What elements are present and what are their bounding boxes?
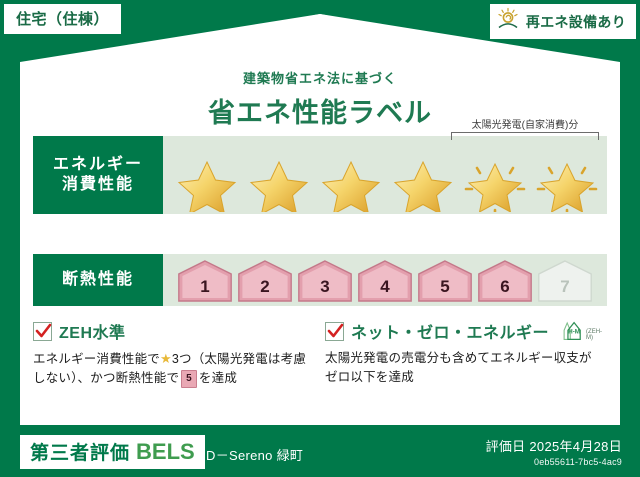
energy-performance-row: エネルギー 消費性能 太陽光発電(自家消費)分 — [33, 136, 607, 214]
achievement-zeh-title: ZEH水準 — [59, 319, 126, 343]
energy-label-line1: エネルギー — [53, 155, 143, 175]
insulation-label-line1: 断熱性能 — [62, 270, 134, 290]
insulation-performance-value: 1 2 — [163, 254, 607, 306]
energy-label-line2: 消費性能 — [62, 175, 134, 195]
insulation-level-number: 3 — [320, 277, 329, 303]
insulation-level-badge: 3 — [297, 259, 353, 303]
inline-insulation-badge: 5 — [181, 370, 197, 388]
energy-label-root: 住宅（住棟） 再エネ設備あり 建築物省エネ法に基づく 省エ — [0, 0, 640, 477]
bels-badge: 第三者評価 BELS — [20, 435, 205, 469]
solar-annotation-bracket — [451, 132, 599, 140]
insulation-level-number: 5 — [440, 277, 449, 303]
energy-performance-label: エネルギー 消費性能 — [33, 136, 163, 214]
evaluation-info: 評価日 2025年4月28日 0eb55611-7bc5-4ac9 — [486, 436, 622, 467]
checkbox-checked-icon[interactable] — [325, 322, 344, 341]
insulation-level-scale: 1 2 — [177, 258, 593, 303]
insulation-level-number: 1 — [200, 277, 209, 303]
dwelling-type-badge: 住宅（住棟） — [4, 4, 121, 34]
evaluation-date: 評価日 2025年4月28日 — [486, 436, 622, 455]
renewable-equipment-badge: 再エネ設備あり — [490, 4, 636, 39]
insulation-level-number: 4 — [380, 277, 389, 303]
insulation-level-badge: 1 — [177, 259, 233, 303]
star-rating — [173, 160, 601, 212]
star-icon — [317, 158, 385, 212]
star-icon-solar — [533, 158, 601, 212]
label-card: 建築物省エネ法に基づく 省エネ性能ラベル エネルギー 消費性能 太陽光発電(自家… — [20, 14, 620, 425]
insulation-level-badge: 4 — [357, 259, 413, 303]
achievement-net-zero-energy: ネット・ゼロ・エネルギー H-M (ZEH-M) 太陽光発電の売電分も含めてエネ… — [325, 319, 603, 388]
heading-subtitle: 建築物省エネ法に基づく — [20, 68, 620, 87]
insulation-level-badge: 7 — [537, 259, 593, 303]
third-party-label: 第三者評価 — [30, 438, 130, 465]
insulation-performance-label: 断熱性能 — [33, 254, 163, 306]
star-icon-solar — [461, 158, 529, 212]
insulation-performance-row: 断熱性能 1 — [33, 254, 607, 306]
star-icon — [389, 158, 457, 212]
solar-annotation-label: 太陽光発電(自家消費)分 — [451, 116, 599, 131]
zeh-m-logo-caption: (ZEH-M) — [586, 329, 606, 343]
achievement-nze-title: ネット・ゼロ・エネルギー — [351, 319, 549, 343]
insulation-level-number: 7 — [560, 277, 569, 303]
achievement-zeh: ZEH水準 エネルギー消費性能で★3つ（太陽光発電は考慮しない）、かつ断熱性能で… — [33, 319, 311, 389]
zeh-body-part3: を達成 — [199, 371, 237, 385]
star-icon — [245, 158, 313, 212]
evaluation-uid: 0eb55611-7bc5-4ac9 — [486, 457, 622, 467]
dwelling-type-label: 住宅（住棟） — [16, 8, 109, 29]
star-icon — [173, 158, 241, 212]
zeh-body-part1: エネルギー消費性能で — [33, 352, 160, 366]
building-name: D－Sereno 緑町 — [206, 445, 303, 464]
svg-text:H-M: H-M — [568, 328, 580, 335]
sun-icon — [496, 7, 520, 36]
renewable-equipment-label: 再エネ設備あり — [526, 12, 626, 32]
solar-annotation: 太陽光発電(自家消費)分 — [451, 116, 599, 140]
achievement-zeh-body: エネルギー消費性能で★3つ（太陽光発電は考慮しない）、かつ断熱性能で5を達成 — [33, 349, 311, 389]
insulation-level-badge: 2 — [237, 259, 293, 303]
insulation-level-number: 6 — [500, 277, 509, 303]
energy-performance-value: 太陽光発電(自家消費)分 — [163, 136, 607, 214]
checkbox-checked-icon[interactable] — [33, 322, 52, 341]
bels-logo-text: BELS — [136, 439, 195, 465]
zeh-m-logo-icon: H-M (ZEH-M) — [558, 319, 606, 343]
achievement-zeh-header: ZEH水準 — [33, 319, 311, 343]
insulation-level-number: 2 — [260, 277, 269, 303]
inline-star-icon: ★ — [160, 351, 172, 366]
insulation-level-badge: 6 — [477, 259, 533, 303]
achievement-nze-body: 太陽光発電の売電分も含めてエネルギー収支がゼロ以下を達成 — [325, 349, 603, 388]
achievement-nze-header: ネット・ゼロ・エネルギー H-M (ZEH-M) — [325, 319, 603, 343]
insulation-level-badge: 5 — [417, 259, 473, 303]
